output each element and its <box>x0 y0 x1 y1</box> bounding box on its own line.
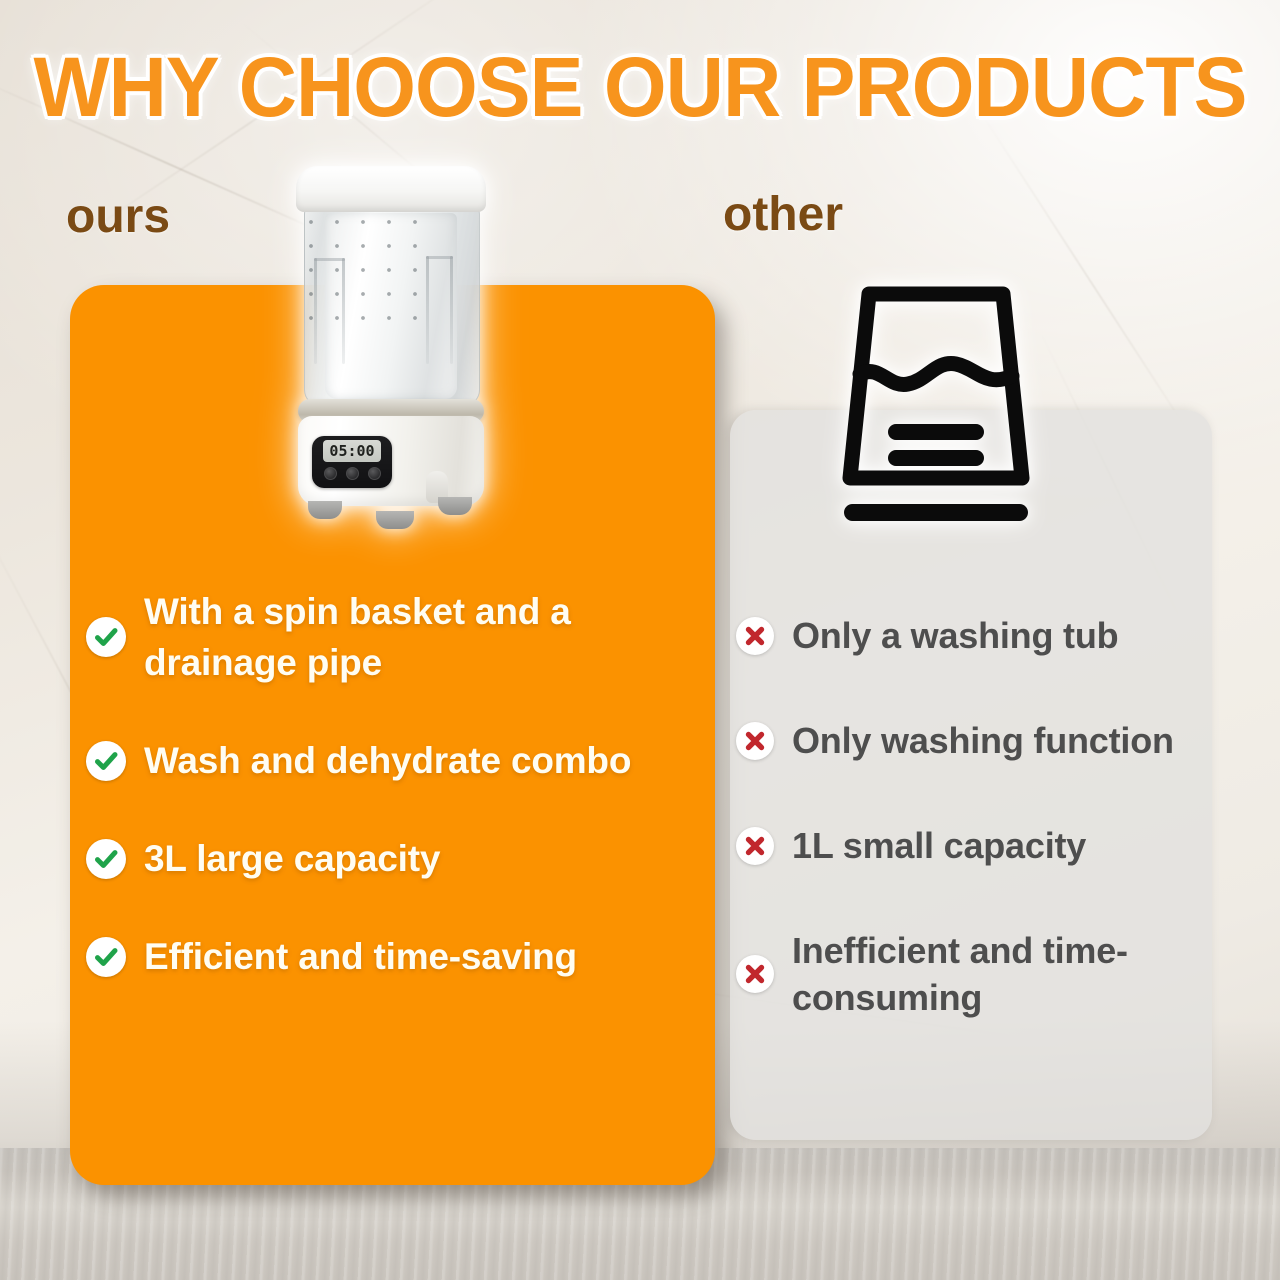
timer-display: 05:00 <box>323 440 381 462</box>
column-heading-ours: ours <box>66 192 170 242</box>
tub-lid <box>296 166 486 212</box>
list-item-label: Only a washing tub <box>792 612 1118 659</box>
column-heading-other: other <box>723 190 843 240</box>
washing-tub-icon <box>836 272 1036 540</box>
list-item-label: With a spin basket and a drainage pipe <box>144 586 706 688</box>
tub-base-bar <box>844 504 1028 521</box>
machine-foot <box>438 497 472 515</box>
list-item-label: 1L small capacity <box>792 822 1086 869</box>
tub-rib <box>450 256 453 364</box>
ours-product-image: 05:00 <box>276 166 506 536</box>
list-item-label: Efficient and time-saving <box>144 931 577 982</box>
control-button[interactable] <box>346 467 359 480</box>
check-circle-icon <box>86 741 126 781</box>
list-item-label: Inefficient and time-consuming <box>792 927 1236 1021</box>
cross-circle-icon <box>736 617 774 655</box>
control-button[interactable] <box>368 467 381 480</box>
cross-circle-icon <box>736 827 774 865</box>
cross-circle-icon <box>736 955 774 993</box>
comparison-infographic: WHY CHOOSE OUR PRODUCTS ours other 05:00 <box>0 0 1280 1280</box>
check-circle-icon <box>86 839 126 879</box>
tub-rib <box>342 258 345 364</box>
list-item: 1L small capacity <box>736 822 1236 869</box>
control-panel[interactable]: 05:00 <box>312 436 392 488</box>
list-item: Only washing function <box>736 717 1236 764</box>
list-item: Only a washing tub <box>736 612 1236 659</box>
laundry-bar <box>888 450 984 466</box>
tub-rib <box>426 256 429 364</box>
tub-rib-top <box>426 256 453 259</box>
list-item: 3L large capacity <box>86 833 706 884</box>
list-item-label: 3L large capacity <box>144 833 440 884</box>
list-item: Wash and dehydrate combo <box>86 735 706 786</box>
tub-rib-top <box>314 258 345 261</box>
control-buttons[interactable] <box>324 467 381 480</box>
laundry-bar <box>888 424 984 440</box>
ours-feature-list: With a spin basket and a drainage pipe W… <box>86 586 706 982</box>
machine-foot <box>376 511 414 529</box>
check-circle-icon <box>86 617 126 657</box>
tub-rib <box>314 258 317 364</box>
check-circle-icon <box>86 937 126 977</box>
list-item: With a spin basket and a drainage pipe <box>86 586 706 688</box>
page-title: WHY CHOOSE OUR PRODUCTS <box>26 44 1255 130</box>
control-button[interactable] <box>324 467 337 480</box>
cross-circle-icon <box>736 722 774 760</box>
machine-foot <box>308 501 342 519</box>
water-line <box>860 363 1012 384</box>
list-item-label: Wash and dehydrate combo <box>144 735 631 786</box>
list-item: Inefficient and time-consuming <box>736 927 1236 1021</box>
other-feature-list: Only a washing tub Only washing function… <box>736 612 1236 1021</box>
list-item-label: Only washing function <box>792 717 1174 764</box>
list-item: Efficient and time-saving <box>86 931 706 982</box>
